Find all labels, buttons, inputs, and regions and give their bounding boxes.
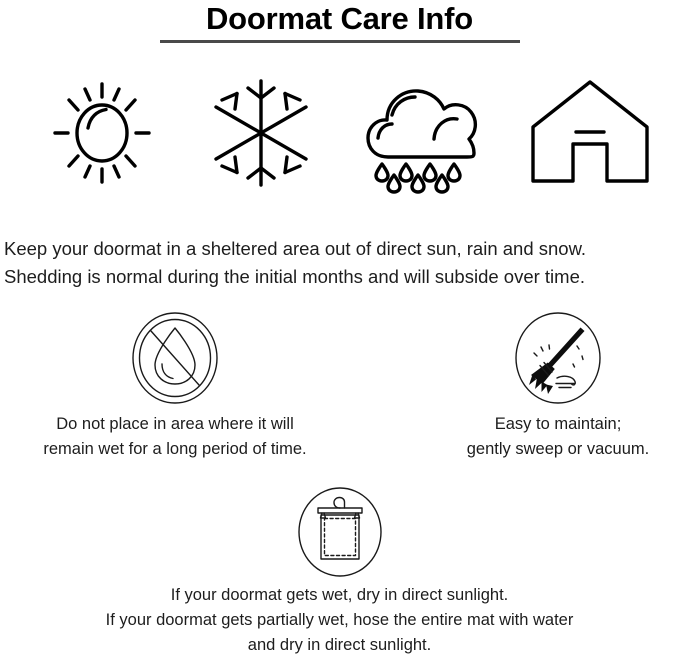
care-caption-no-standing-water: Do not place in area where it will remai… xyxy=(20,412,330,462)
care-item-easy-maintain: Easy to maintain; gently sweep or vacuum… xyxy=(400,312,679,462)
hang-dry-icon xyxy=(0,487,679,577)
intro-paragraph: Keep your doormat in a sheltered area ou… xyxy=(0,235,679,291)
page-title: Doormat Care Info xyxy=(0,0,679,36)
house-icon xyxy=(516,72,664,194)
sun-icon xyxy=(28,72,176,194)
broom-icon xyxy=(400,312,679,404)
page-header: Doormat Care Info xyxy=(0,0,679,43)
rain-cloud-icon xyxy=(346,72,498,194)
care-caption-hang-dry: If your doormat gets wet, dry in direct … xyxy=(0,583,679,658)
care-item-hang-dry: If your doormat gets wet, dry in direct … xyxy=(0,487,679,658)
no-water-icon xyxy=(20,312,330,404)
care-item-no-standing-water: Do not place in area where it will remai… xyxy=(20,312,330,462)
snowflake-icon xyxy=(196,72,326,194)
care-columns: Do not place in area where it will remai… xyxy=(0,312,679,472)
care-caption-easy-maintain: Easy to maintain; gently sweep or vacuum… xyxy=(400,412,679,462)
weather-icon-row xyxy=(0,72,679,194)
title-underline-rule xyxy=(160,40,520,43)
